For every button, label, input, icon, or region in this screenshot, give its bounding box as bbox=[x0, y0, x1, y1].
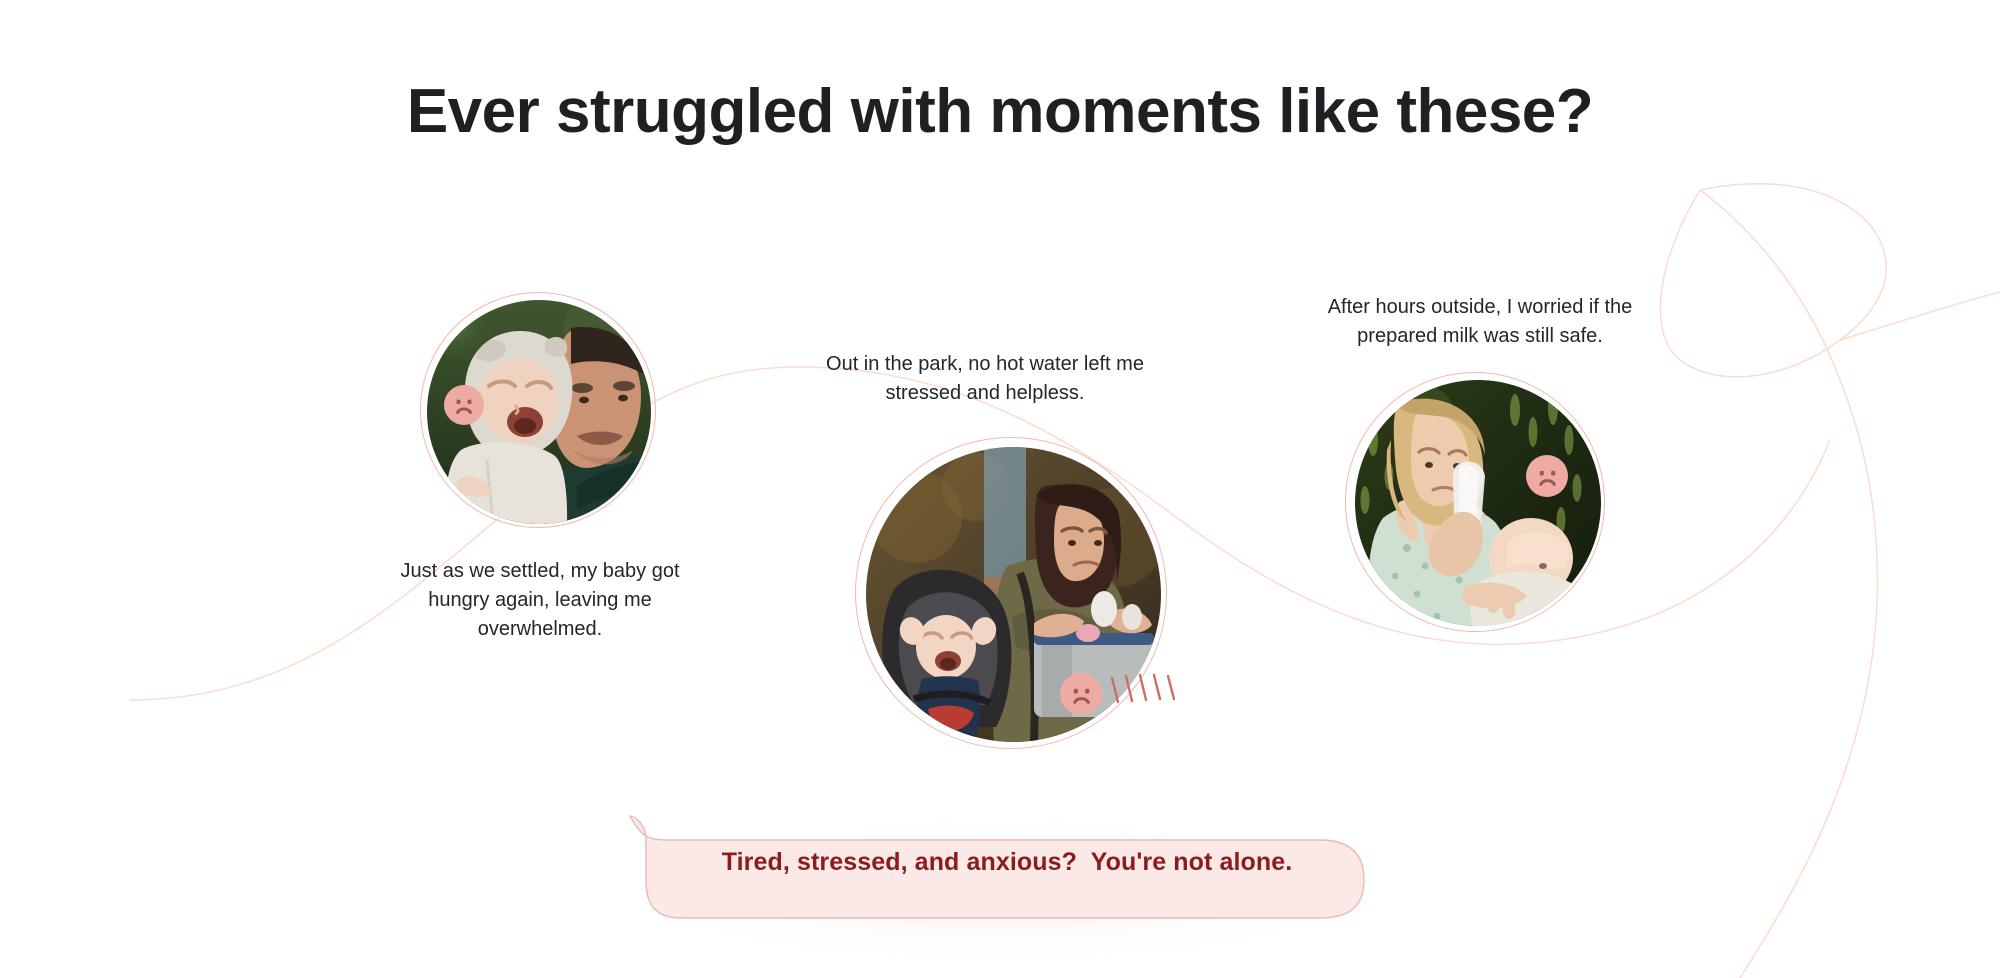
sad-face-badge-2 bbox=[1060, 673, 1102, 715]
page-title: Ever struggled with moments like these? bbox=[0, 78, 2000, 146]
bubble-text: Tired, stressed, and anxious? You're not… bbox=[620, 800, 1380, 925]
mother-bottle-feeding-illustration bbox=[1355, 380, 1601, 626]
photo-2 bbox=[866, 447, 1161, 742]
story-caption-1: Just as we settled, my baby got hungry a… bbox=[370, 557, 710, 644]
mother-with-stroller-illustration bbox=[866, 447, 1161, 742]
photo-3-image bbox=[1355, 380, 1601, 626]
sad-face-badge-1 bbox=[444, 385, 484, 425]
photo-3 bbox=[1355, 380, 1601, 626]
sad-face-icon bbox=[1068, 681, 1095, 708]
story-caption-2: Out in the park, no hot water left me st… bbox=[800, 350, 1170, 408]
photo-2-image bbox=[866, 447, 1161, 742]
sad-face-badge-3 bbox=[1526, 455, 1568, 497]
page-root: Ever struggled with moments like these? bbox=[0, 0, 2000, 978]
story-caption-3: After hours outside, I worried if the pr… bbox=[1290, 293, 1670, 351]
sad-face-icon bbox=[451, 392, 477, 418]
reassurance-bubble: Tired, stressed, and anxious? You're not… bbox=[620, 800, 1380, 925]
sad-face-icon bbox=[1534, 463, 1561, 490]
